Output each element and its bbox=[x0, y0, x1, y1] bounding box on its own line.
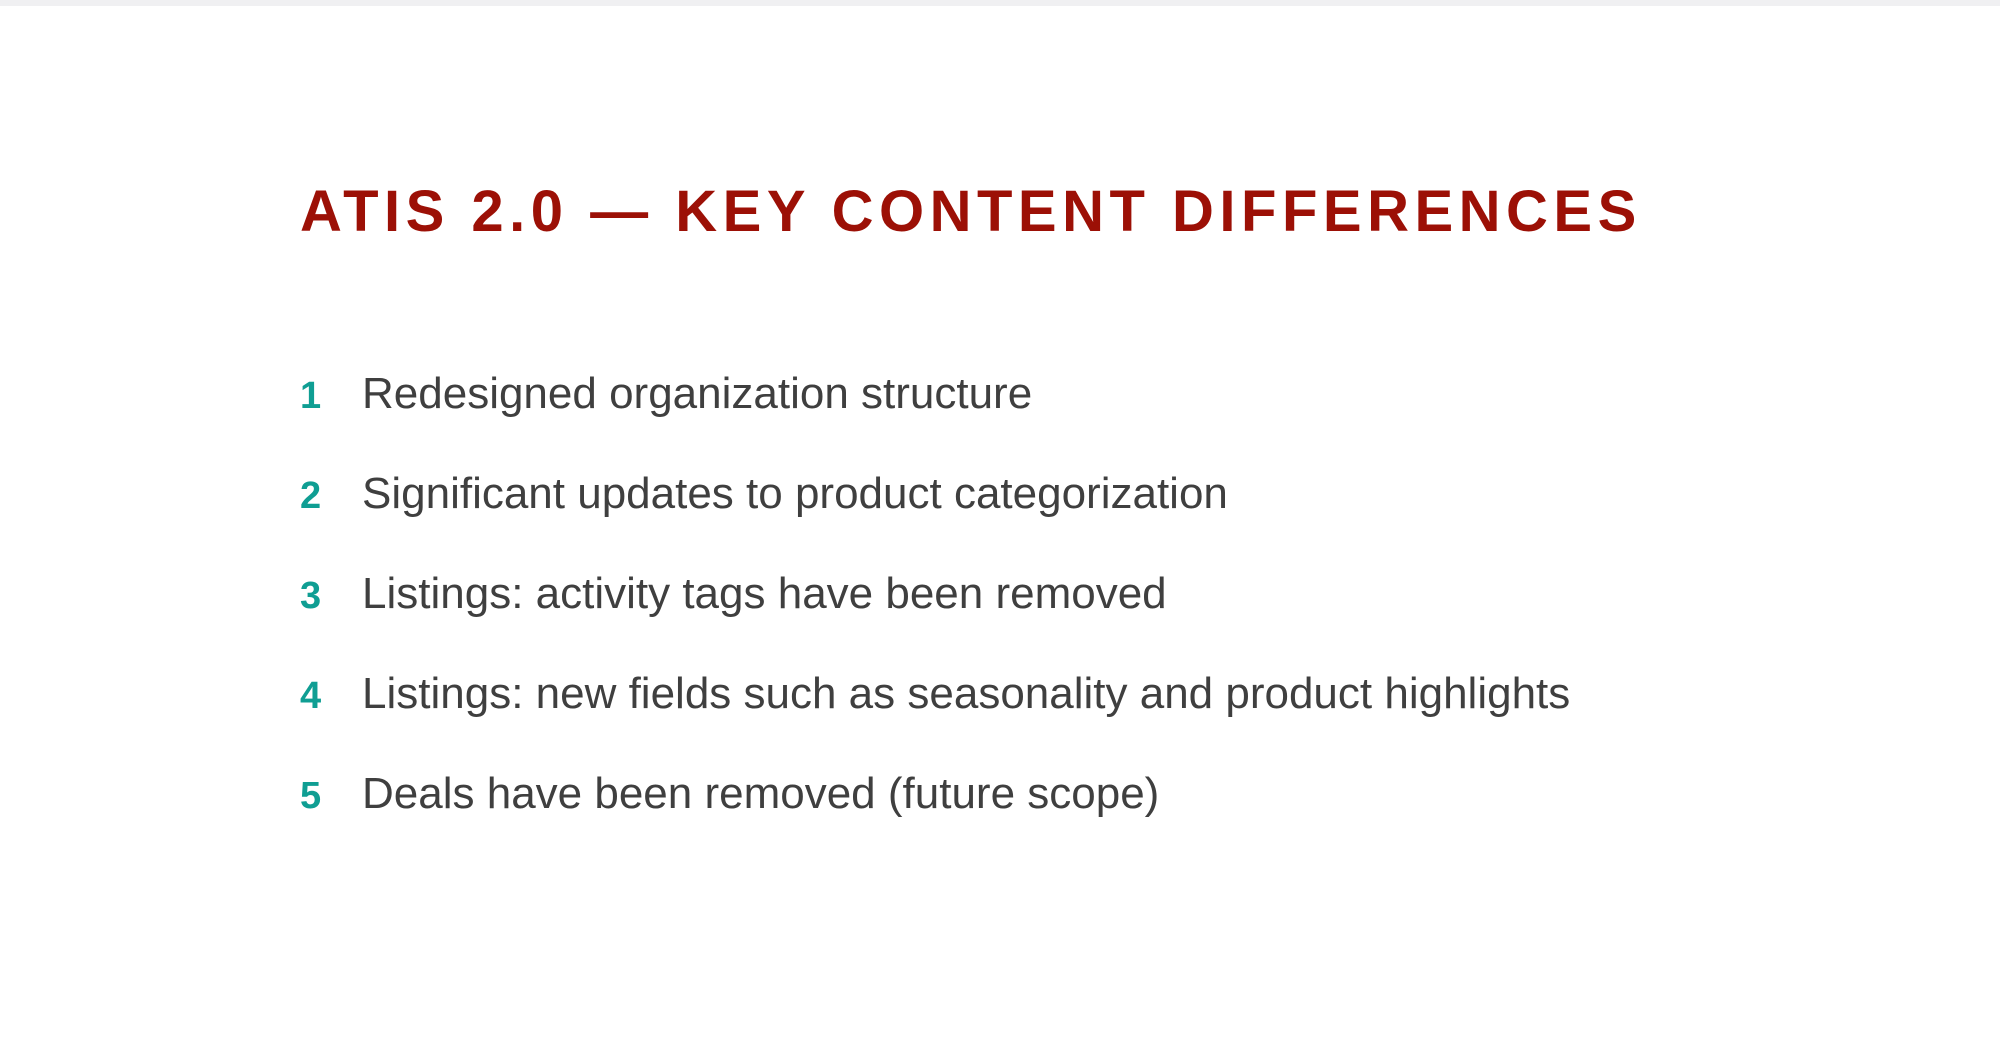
page-title: ATIS 2.0 — KEY CONTENT DIFFERENCES bbox=[300, 179, 1642, 246]
list-item-number: 4 bbox=[300, 677, 362, 715]
list-item-number: 2 bbox=[300, 477, 362, 515]
list-item-number: 3 bbox=[300, 577, 362, 615]
presentation-slide: ATIS 2.0 — KEY CONTENT DIFFERENCES 1 Red… bbox=[0, 0, 2000, 1061]
list-item-text: Redesigned organization structure bbox=[362, 372, 1900, 416]
list-item-text: Listings: new fields such as seasonality… bbox=[362, 672, 1900, 716]
list-item: 3 Listings: activity tags have been remo… bbox=[300, 572, 1900, 672]
list-item-text: Listings: activity tags have been remove… bbox=[362, 572, 1900, 616]
list-item: 4 Listings: new fields such as seasonali… bbox=[300, 672, 1900, 772]
list-item: 5 Deals have been removed (future scope) bbox=[300, 772, 1900, 872]
list-item-text: Significant updates to product categoriz… bbox=[362, 472, 1900, 516]
list-item-text: Deals have been removed (future scope) bbox=[362, 772, 1900, 816]
list-item-number: 1 bbox=[300, 377, 362, 415]
list-item: 2 Significant updates to product categor… bbox=[300, 472, 1900, 572]
list-item-number: 5 bbox=[300, 777, 362, 815]
numbered-bullet-list: 1 Redesigned organization structure 2 Si… bbox=[300, 372, 1900, 872]
top-edge-strip bbox=[0, 0, 2000, 6]
list-item: 1 Redesigned organization structure bbox=[300, 372, 1900, 472]
